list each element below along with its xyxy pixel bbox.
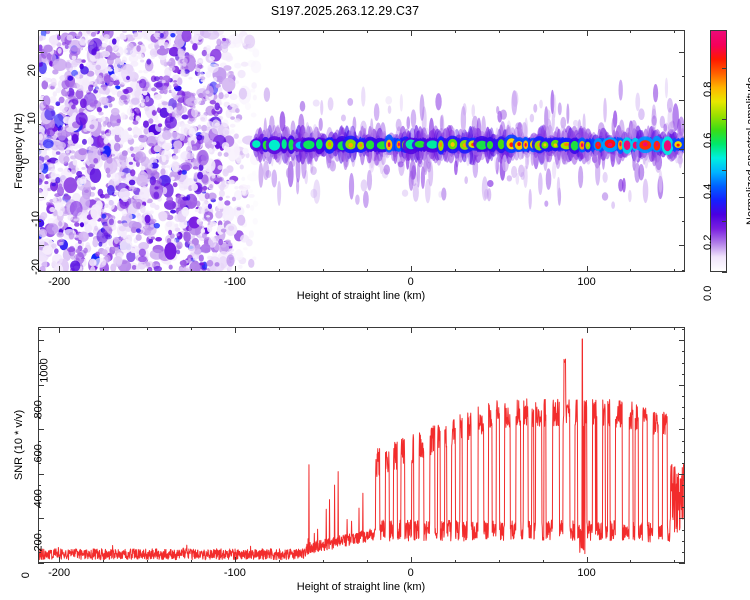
tick-label: -200 (48, 567, 70, 579)
tick-label: 100 (577, 567, 595, 579)
tick-label: 0 (408, 567, 414, 579)
tick-label: -10 (30, 211, 42, 227)
figure-canvas: S197.2025.263.12.29.C37 -200-1000100 -20… (0, 0, 750, 600)
tick-label: -200 (48, 276, 70, 288)
snr-line-series (39, 328, 684, 562)
tick-label: 0 (408, 276, 414, 288)
tick-label: 0.4 (702, 184, 714, 199)
spectrogram-plot-area (38, 30, 685, 272)
tick-label: 10 (26, 112, 38, 124)
tick-label: 0.8 (702, 82, 714, 97)
tick-label: 0.2 (702, 235, 714, 250)
tick-label: -100 (224, 567, 246, 579)
tick-label: 0 (20, 572, 32, 578)
spectrogram-x-axis-title: Height of straight line (km) (297, 290, 425, 302)
tick-label: 200 (32, 534, 44, 552)
tick-label: -100 (224, 276, 246, 288)
tick-label: 0.6 (702, 133, 714, 148)
tick-label: 600 (32, 445, 44, 463)
snr-x-axis-title: Height of straight line (km) (297, 581, 425, 593)
tick-label: 20 (26, 64, 38, 76)
spectrogram-y-axis-title: Frequency (Hz) (13, 113, 25, 189)
snr-y-axis-title: SNR (10 * v/v) (13, 410, 25, 480)
snr-plot-area (38, 327, 685, 563)
tick-label: 1000 (38, 359, 50, 383)
tick-label: 400 (32, 489, 44, 507)
colorbar-title: Normalized spectral amplitude (745, 77, 750, 225)
tick-label: -20 (30, 259, 42, 275)
tick-label: 100 (577, 276, 595, 288)
figure-title: S197.2025.263.12.29.C37 (0, 4, 690, 18)
tick-label: 800 (32, 400, 44, 418)
tick-label: 0.0 (702, 286, 714, 301)
spectrogram-image (39, 31, 684, 271)
